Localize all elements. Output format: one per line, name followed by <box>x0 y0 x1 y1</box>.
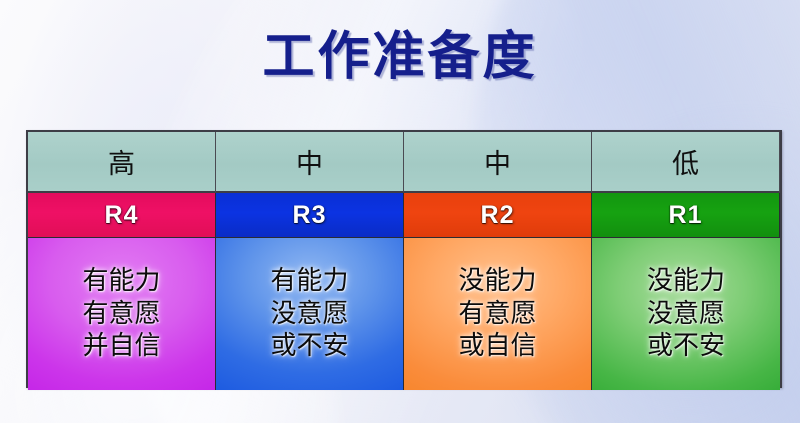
description-line: 没意愿 <box>270 298 348 329</box>
description-line: 并自信 <box>82 330 160 361</box>
code-label: R3 <box>293 201 327 230</box>
code-label: R2 <box>481 201 515 230</box>
code-cell-r3: R3 <box>216 193 404 238</box>
description-line: 或不安 <box>647 330 725 361</box>
level-header-cell-r2: 中 <box>404 132 592 193</box>
description-line: 或自信 <box>458 330 536 361</box>
code-label: R4 <box>105 201 139 230</box>
level-header-cell-r3: 中 <box>216 132 404 193</box>
description-line: 没能力 <box>647 265 725 296</box>
description-line: 有意愿 <box>82 298 160 329</box>
description-cell-r3: 有能力 没意愿 或不安 <box>216 238 404 390</box>
description-line: 没意愿 <box>647 298 725 329</box>
description-cell-r4: 有能力 有意愿 并自信 <box>28 238 216 390</box>
description-cell-r2: 没能力 有意愿 或自信 <box>404 238 592 390</box>
description-line: 有能力 <box>270 265 348 296</box>
description-line: 或不安 <box>270 330 348 361</box>
level-header-cell-r4: 高 <box>28 132 216 193</box>
code-cell-r4: R4 <box>28 193 216 238</box>
level-label: 低 <box>672 142 699 181</box>
level-label: 中 <box>296 142 323 181</box>
readiness-matrix-table: 高 中 中 低 R4 R3 R2 R1 有能力 有意愿 并自信 <box>26 130 782 388</box>
description-line: 有能力 <box>82 265 160 296</box>
level-label: 高 <box>108 142 135 181</box>
slide-canvas: 工作准备度 高 中 中 低 R4 R3 R2 R1 有能力 有意愿 <box>0 0 800 423</box>
description-line: 没能力 <box>458 265 536 296</box>
level-label: 中 <box>484 142 511 181</box>
page-title: 工作准备度 <box>0 14 800 89</box>
code-label: R1 <box>669 201 703 230</box>
description-line: 有意愿 <box>458 298 536 329</box>
code-cell-r1: R1 <box>592 193 780 238</box>
code-cell-r2: R2 <box>404 193 592 238</box>
level-header-cell-r1: 低 <box>592 132 780 193</box>
description-cell-r1: 没能力 没意愿 或不安 <box>592 238 780 390</box>
